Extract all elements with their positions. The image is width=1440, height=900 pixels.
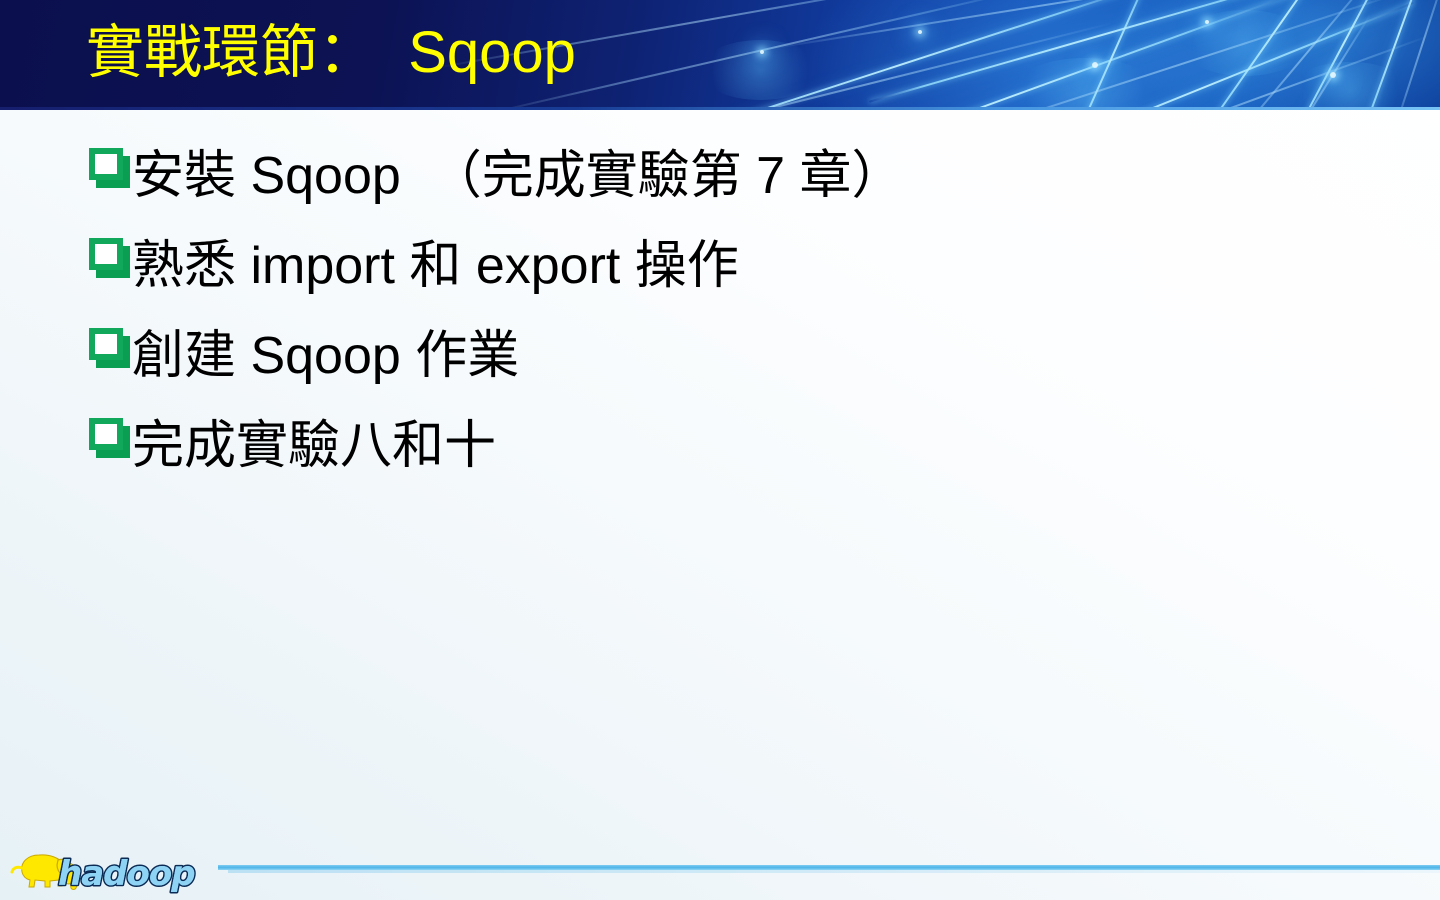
footer-divider-line-soft — [228, 870, 1440, 873]
slide-title: 實戰環節： Sqoop — [86, 13, 576, 93]
list-item: 完成實驗八和十 — [88, 404, 1368, 494]
list-item: 熟悉 import 和 export 操作 — [88, 224, 1368, 314]
green-box-bullet-icon — [88, 238, 132, 300]
list-item-label: 創建 Sqoop 作業 — [132, 314, 1368, 398]
green-box-bullet-icon — [88, 328, 132, 390]
circuit-node-icon — [760, 50, 764, 54]
bullet-list: 安裝 Sqoop （完成實驗第 7 章） 熟悉 import 和 export … — [88, 134, 1368, 494]
hadoop-logo: hadoop hadoop — [6, 842, 226, 894]
header-glow-blob — [1290, 62, 1410, 110]
circuit-node-icon — [1205, 20, 1209, 24]
list-item-label: 完成實驗八和十 — [132, 404, 1368, 488]
list-item: 創建 Sqoop 作業 — [88, 314, 1368, 404]
circuit-node-icon — [1330, 72, 1336, 78]
list-item-label: 熟悉 import 和 export 操作 — [132, 224, 1368, 308]
slide-header-banner: 實戰環節： Sqoop — [0, 0, 1440, 110]
hadoop-wordmark-fill: hadoop — [58, 854, 195, 894]
slide-canvas: 實戰環節： Sqoop 安裝 Sqoop （完成實驗第 7 章） 熟悉 impo… — [0, 0, 1440, 900]
header-bottom-edge — [0, 107, 1440, 110]
slide-footer: hadoop hadoop — [0, 838, 1440, 900]
circuit-node-icon — [1092, 62, 1098, 68]
header-glow-blob — [1010, 58, 1160, 110]
green-box-bullet-icon — [88, 148, 132, 210]
circuit-node-icon — [918, 30, 922, 34]
green-box-bullet-icon — [88, 418, 132, 480]
list-item-label: 安裝 Sqoop （完成實驗第 7 章） — [132, 134, 1368, 218]
list-item: 安裝 Sqoop （完成實驗第 7 章） — [88, 134, 1368, 224]
